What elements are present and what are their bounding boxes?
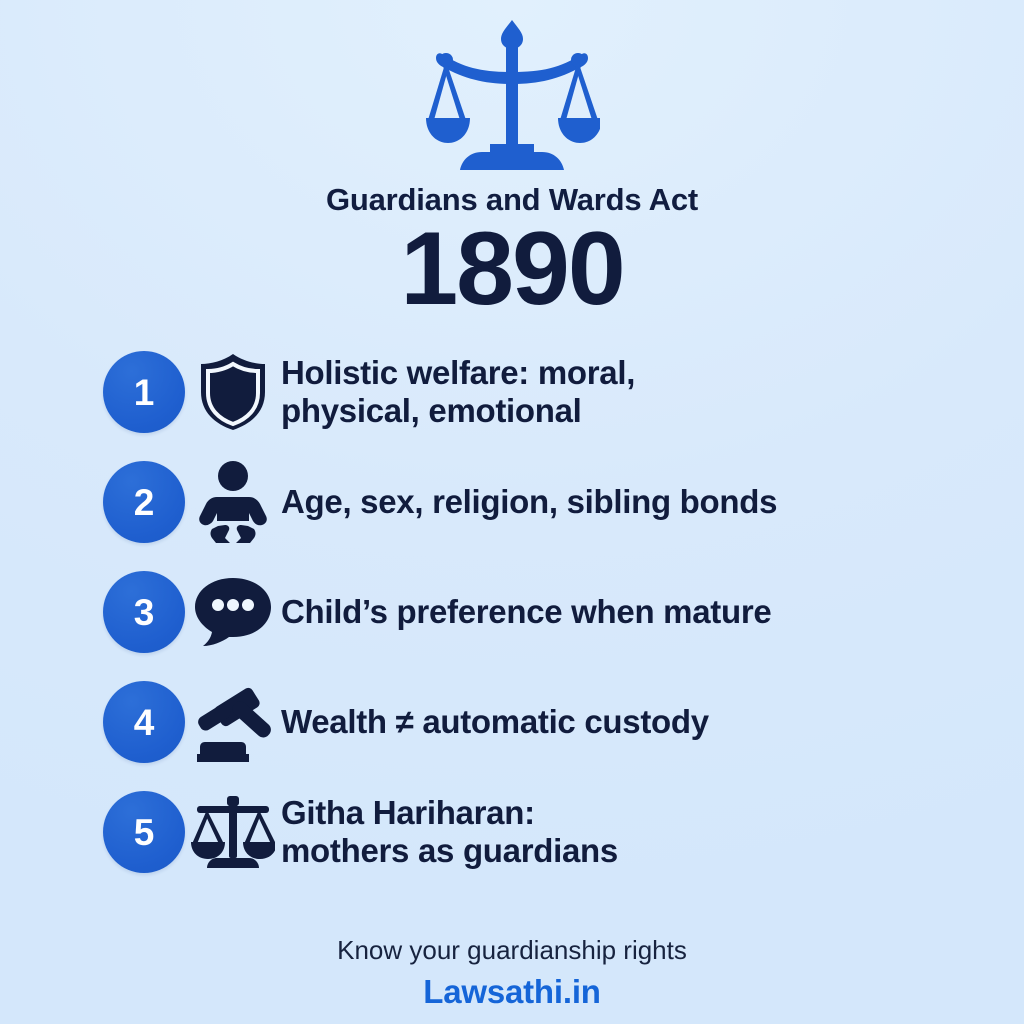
list-item-line-1: Wealth ≠ automatic custody [281, 703, 709, 740]
balance-scales-icon [185, 791, 281, 873]
list-item-number: 1 [103, 351, 185, 433]
list-item-text: Holistic welfare: moral, physical, emoti… [281, 354, 984, 431]
list-item-text: Wealth ≠ automatic custody [281, 703, 984, 741]
list-item-line-1: Holistic welfare: moral, [281, 354, 635, 391]
list-item: 3 Child’s preference when mature [103, 571, 984, 653]
list-item-text: Githa Hariharan: mothers as guardians [281, 794, 984, 871]
list-item: 5 [103, 791, 984, 873]
shield-icon [185, 351, 281, 433]
footer-tagline: Know your guardianship rights [0, 935, 1024, 966]
list-item-text: Child’s preference when mature [281, 593, 984, 631]
poster-footer: Know your guardianship rights Lawsathi.i… [0, 935, 1024, 1010]
scales-of-justice-icon [424, 18, 600, 176]
speech-bubble-icon [185, 571, 281, 653]
list-item-line-2: physical, emotional [281, 392, 984, 430]
brand-name: Lawsathi.in [0, 974, 1024, 1010]
points-list: 1 Holistic welfare: moral, physical, emo… [0, 351, 1024, 873]
gavel-icon [185, 681, 281, 763]
list-item-line-1: Child’s preference when mature [281, 593, 771, 630]
list-item-text: Age, sex, religion, sibling bonds [281, 483, 984, 521]
list-item-number: 5 [103, 791, 185, 873]
list-item-number: 4 [103, 681, 185, 763]
baby-icon [185, 461, 281, 543]
list-item-line-2: mothers as guardians [281, 832, 984, 870]
infographic-poster: Guardians and Wards Act 1890 1 Holistic … [0, 0, 1024, 1024]
act-year: 1890 [400, 213, 623, 325]
list-item-number: 2 [103, 461, 185, 543]
list-item-line-1: Age, sex, religion, sibling bonds [281, 483, 777, 520]
list-item: 1 Holistic welfare: moral, physical, emo… [103, 351, 984, 433]
list-item-number: 3 [103, 571, 185, 653]
list-item: 2 Age, sex, religion, sibling bonds [103, 461, 984, 543]
list-item: 4 Wealth ≠ aut [103, 681, 984, 763]
poster-header: Guardians and Wards Act 1890 [0, 0, 1024, 325]
list-item-line-1: Githa Hariharan: [281, 794, 535, 831]
